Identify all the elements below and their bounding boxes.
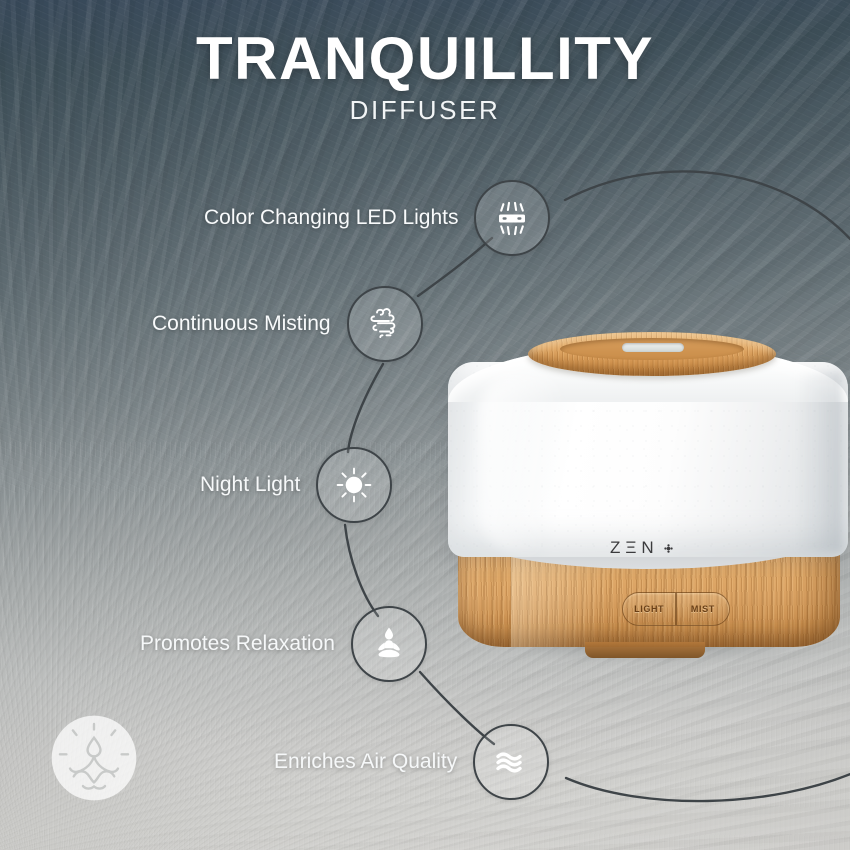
product-control-pad: LIGHT MIST [622,592,730,626]
product-diffuser: ZΞN LIGHT MIST [410,320,850,700]
feature-night-light: Night Light [200,447,392,523]
yoga-meditation-icon[interactable] [351,606,427,682]
feature-label: Promotes Relaxation [140,632,335,656]
product-brand-logo: ZΞN [610,538,673,558]
light-button[interactable]: LIGHT [623,593,675,625]
air-waves-icon[interactable] [473,724,549,800]
brand-flower-icon [664,544,673,553]
feature-label: Enriches Air Quality [274,750,457,774]
feature-continuous-misting: Continuous Misting [152,286,423,362]
feature-promotes-relaxation: Promotes Relaxation [140,606,427,682]
product-body-sheen [480,372,572,552]
feature-label: Continuous Misting [152,312,331,336]
zen-lotus-emblem [48,712,140,804]
product-foot [585,642,705,658]
infographic-stage: TRANQUILLITY DIFFUSER ZΞN [0,0,850,850]
brand-text: ZΞN [610,538,659,558]
feature-led-lights: Color Changing LED Lights [204,180,550,256]
feature-label: Night Light [200,473,300,497]
led-strip-icon[interactable] [474,180,550,256]
feature-enriches-air-quality: Enriches Air Quality [274,724,549,800]
mist-button[interactable]: MIST [677,593,729,625]
product-body-edge-shade [788,372,842,552]
feature-label: Color Changing LED Lights [204,206,458,230]
sun-moon-icon[interactable] [316,447,392,523]
mist-swirl-icon[interactable] [347,286,423,362]
product-mist-outlet [622,343,684,352]
